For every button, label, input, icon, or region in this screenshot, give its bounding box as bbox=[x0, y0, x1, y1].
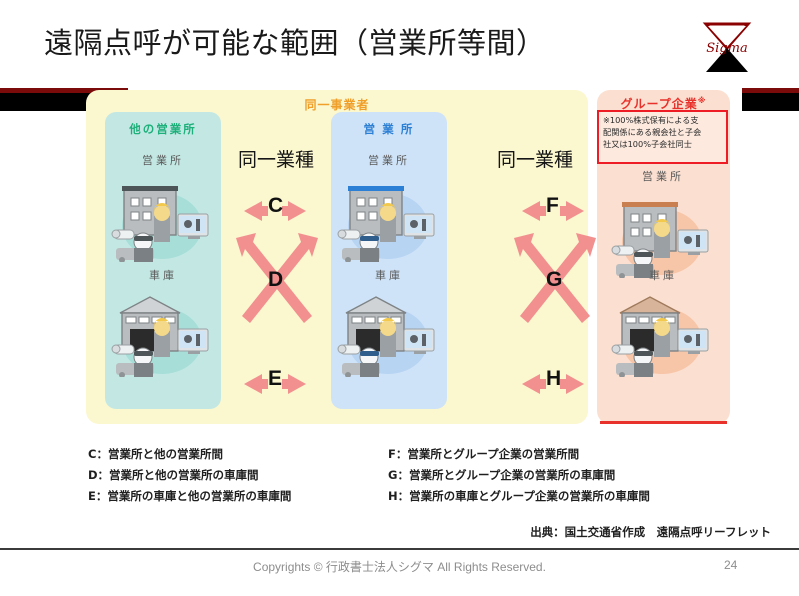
panel-group-company-heading-mark: ※ bbox=[698, 96, 707, 105]
arrow-g-label: G bbox=[546, 268, 562, 292]
legend-item-f: F：営業所とグループ企業の営業所間 bbox=[388, 444, 650, 465]
arrow-d-label: D bbox=[268, 268, 283, 292]
legend-column-left: C：営業所と他の営業所間 D：営業所と他の営業所の車庫間 E：営業所の車庫と他の… bbox=[88, 444, 291, 507]
source-attribution: 出典：国土交通省作成 遠隔点呼リーフレット bbox=[530, 524, 771, 540]
illustration-garage-center bbox=[336, 285, 442, 382]
box-group-office-garage-label: 車庫 bbox=[604, 267, 722, 283]
legend-item-c: C：営業所と他の営業所間 bbox=[88, 444, 291, 465]
box-office-title: 営 業 所 bbox=[331, 121, 447, 137]
box-office: 営 業 所 営業所 bbox=[331, 112, 447, 409]
arrow-e-label: E bbox=[268, 367, 282, 391]
page-title: 遠隔点呼が可能な範囲（営業所等間） bbox=[44, 20, 546, 62]
svg-text:Sigma: Sigma bbox=[706, 41, 747, 56]
sigma-hourglass-logo-icon: Sigma bbox=[700, 20, 754, 76]
group-company-footnote-line-3: 社又は100%子会社同士 bbox=[603, 139, 722, 151]
arrow-c-label: C bbox=[268, 194, 283, 218]
panel-group-company-heading-text: グループ企業 bbox=[620, 97, 697, 111]
legend-item-e: E：営業所の車庫と他の営業所の車庫間 bbox=[88, 486, 291, 507]
legend-item-h: H：営業所の車庫とグループ企業の営業所の車庫間 bbox=[388, 486, 650, 507]
illustration-garage-group bbox=[610, 285, 716, 382]
box-office-office-label: 営業所 bbox=[331, 152, 447, 168]
panel-group-company-underline bbox=[600, 421, 727, 424]
legend-item-g: G：営業所とグループ企業の営業所の車庫間 bbox=[388, 465, 650, 486]
industry-label-left: 同一業種 bbox=[238, 145, 314, 172]
box-other-office-office-label: 営業所 bbox=[105, 152, 221, 168]
box-group-office-office-label: 営業所 bbox=[604, 168, 722, 184]
box-other-office-garage-label: 車庫 bbox=[105, 267, 221, 283]
illustration-office-center bbox=[336, 170, 442, 267]
panel-same-operator-heading: 同一事業者 bbox=[86, 96, 588, 113]
footer-divider bbox=[0, 548, 799, 550]
illustration-office-other bbox=[110, 170, 216, 267]
legend-item-d: D：営業所と他の営業所の車庫間 bbox=[88, 465, 291, 486]
diagram-area: 同一事業者 グループ企業※ 他の営業所 営業所 bbox=[0, 90, 799, 435]
industry-label-right: 同一業種 bbox=[497, 145, 573, 172]
slide-root: 遠隔点呼が可能な範囲（営業所等間） Sigma 同一事業者 グループ企業※ bbox=[0, 0, 799, 596]
legend: C：営業所と他の営業所間 D：営業所と他の営業所の車庫間 E：営業所の車庫と他の… bbox=[0, 444, 799, 514]
group-company-footnote-line-2: 配関係にある親会社と子会 bbox=[603, 127, 722, 139]
illustration-garage-other bbox=[110, 285, 216, 382]
group-company-footnote-line-1: ※100%株式保有による支 bbox=[603, 115, 722, 127]
footer-copyright: Copyrights © 行政書士法人シグマ All Rights Reserv… bbox=[0, 558, 799, 575]
page-number: 24 bbox=[724, 558, 737, 572]
box-other-office-title: 他の営業所 bbox=[105, 121, 221, 137]
arrow-h-label: H bbox=[546, 367, 561, 391]
group-company-footnote: ※100%株式保有による支 配関係にある親会社と子会 社又は100%子会社同士 bbox=[597, 110, 728, 164]
legend-column-right: F：営業所とグループ企業の営業所間 G：営業所とグループ企業の営業所の車庫間 H… bbox=[388, 444, 650, 507]
box-office-garage-label: 車庫 bbox=[331, 267, 447, 283]
arrow-f-label: F bbox=[546, 194, 559, 218]
box-other-office: 他の営業所 営業所 bbox=[105, 112, 221, 409]
